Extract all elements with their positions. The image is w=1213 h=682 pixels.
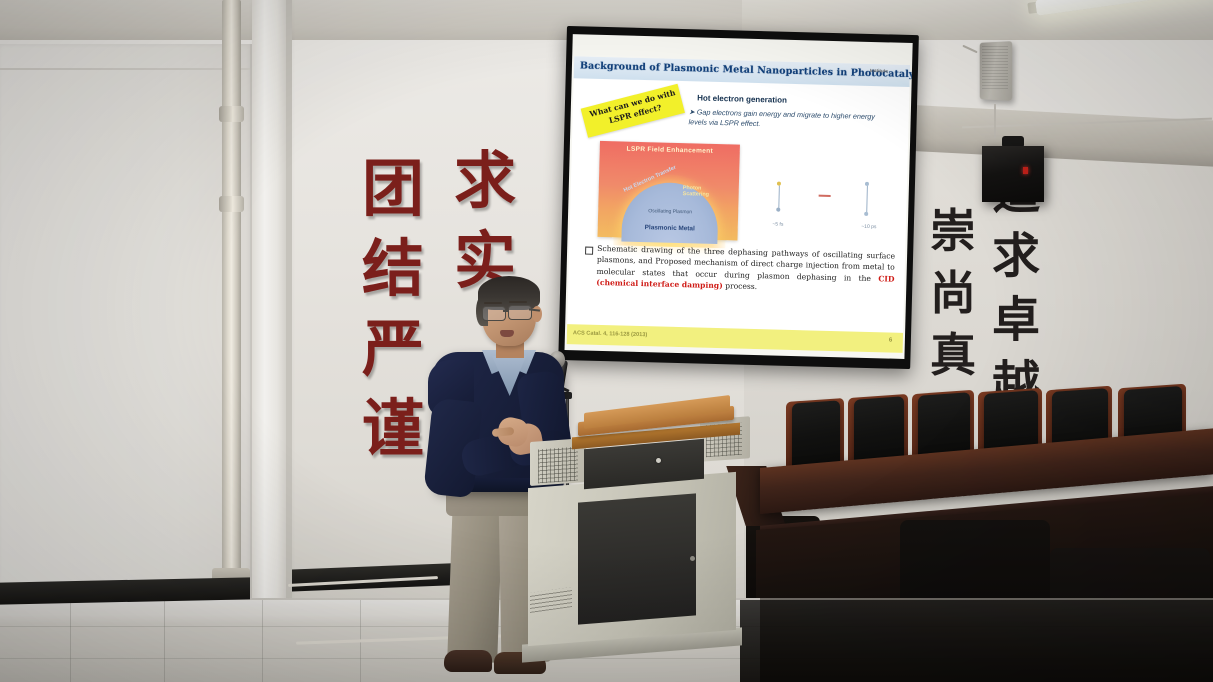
slide-page-number: 6 — [889, 338, 892, 344]
section-heading: Hot electron generation — [697, 93, 787, 104]
projection-screen[interactable]: Background of Plasmonic Metal Nanopartic… — [558, 26, 919, 369]
energy-dot — [864, 212, 868, 216]
lectern-knob[interactable] — [690, 556, 695, 561]
bullet-square-icon — [585, 247, 593, 255]
hanzi-char: 崇 — [930, 208, 976, 254]
slide-body-text: Schematic drawing of the three dephasing… — [596, 243, 895, 296]
screen-surface: Background of Plasmonic Metal Nanopartic… — [565, 34, 913, 359]
section-bullet: ➤ Gap electrons gain energy and migrate … — [688, 107, 888, 131]
lectern-lock-icon[interactable] — [656, 458, 661, 463]
presenter-mouth — [500, 330, 514, 337]
hanzi-char: 谨 — [362, 398, 424, 460]
left-wall-panel — [0, 44, 252, 600]
floor-tile-line — [262, 600, 263, 682]
hanzi-char: 求 — [992, 232, 1040, 280]
dephasing-diagram: ~5 fs ~10 ps — [751, 145, 895, 245]
floor-tile-line — [70, 600, 71, 682]
timescale-label: ~5 fs — [760, 221, 796, 228]
wall-calligraphy-left-column-1: 团 结 严 谨 — [362, 158, 424, 478]
diagram-side-label: Photon Scattering — [683, 185, 723, 198]
institute-logo: Institute — [870, 68, 888, 73]
transition-arrow — [866, 186, 868, 214]
black-speaker-wire — [994, 104, 996, 138]
wall-calligraphy-right-column-2: 追 求 卓 越 — [992, 168, 1040, 424]
presenter-eyebrow — [509, 301, 527, 303]
body-text-part2: process. — [723, 281, 758, 291]
presenter-leg — [447, 499, 503, 663]
lectern-speaker-grille-left — [538, 447, 578, 484]
hanzi-char: 尚 — [930, 270, 976, 316]
power-led-indicator — [1023, 167, 1028, 174]
presentation-slide: Background of Plasmonic Metal Nanopartic… — [567, 56, 910, 353]
drain-pipe — [222, 0, 241, 598]
energy-dot — [776, 208, 780, 212]
black-speaker-icon — [982, 146, 1044, 202]
table-floor-shadow — [740, 600, 1213, 682]
body-text-part1: Schematic drawing of the three dephasing… — [596, 244, 895, 283]
hanzi-char: 团 — [362, 158, 424, 220]
wall-seam-line — [0, 68, 252, 70]
hanzi-char: 卓 — [992, 296, 1040, 344]
center-marker — [819, 195, 831, 197]
hanzi-char: 真 — [930, 332, 976, 378]
pipe-joint-lower — [219, 196, 244, 212]
pipe-joint-upper — [219, 106, 244, 122]
hanzi-char: 求 — [454, 150, 516, 212]
glasses-bridge — [503, 310, 509, 312]
glasses-icon — [482, 306, 506, 321]
column-edge — [286, 0, 292, 620]
lecture-hall-photo: 团 结 严 谨 求 实 崇 尚 真 知 追 求 卓 越 Background o… — [0, 0, 1213, 682]
presenter-shoe — [444, 650, 492, 672]
slide-footer-bar — [567, 324, 903, 353]
hanzi-char: 结 — [362, 238, 424, 300]
structural-column — [252, 0, 288, 620]
floor-tile-line — [164, 600, 165, 682]
timescale-label: ~10 ps — [848, 223, 890, 230]
wall-speaker-grille — [982, 46, 1008, 90]
hanzi-char: 严 — [362, 318, 424, 380]
lectern-front-panel — [578, 493, 696, 624]
presenter-eyebrow — [484, 302, 502, 304]
